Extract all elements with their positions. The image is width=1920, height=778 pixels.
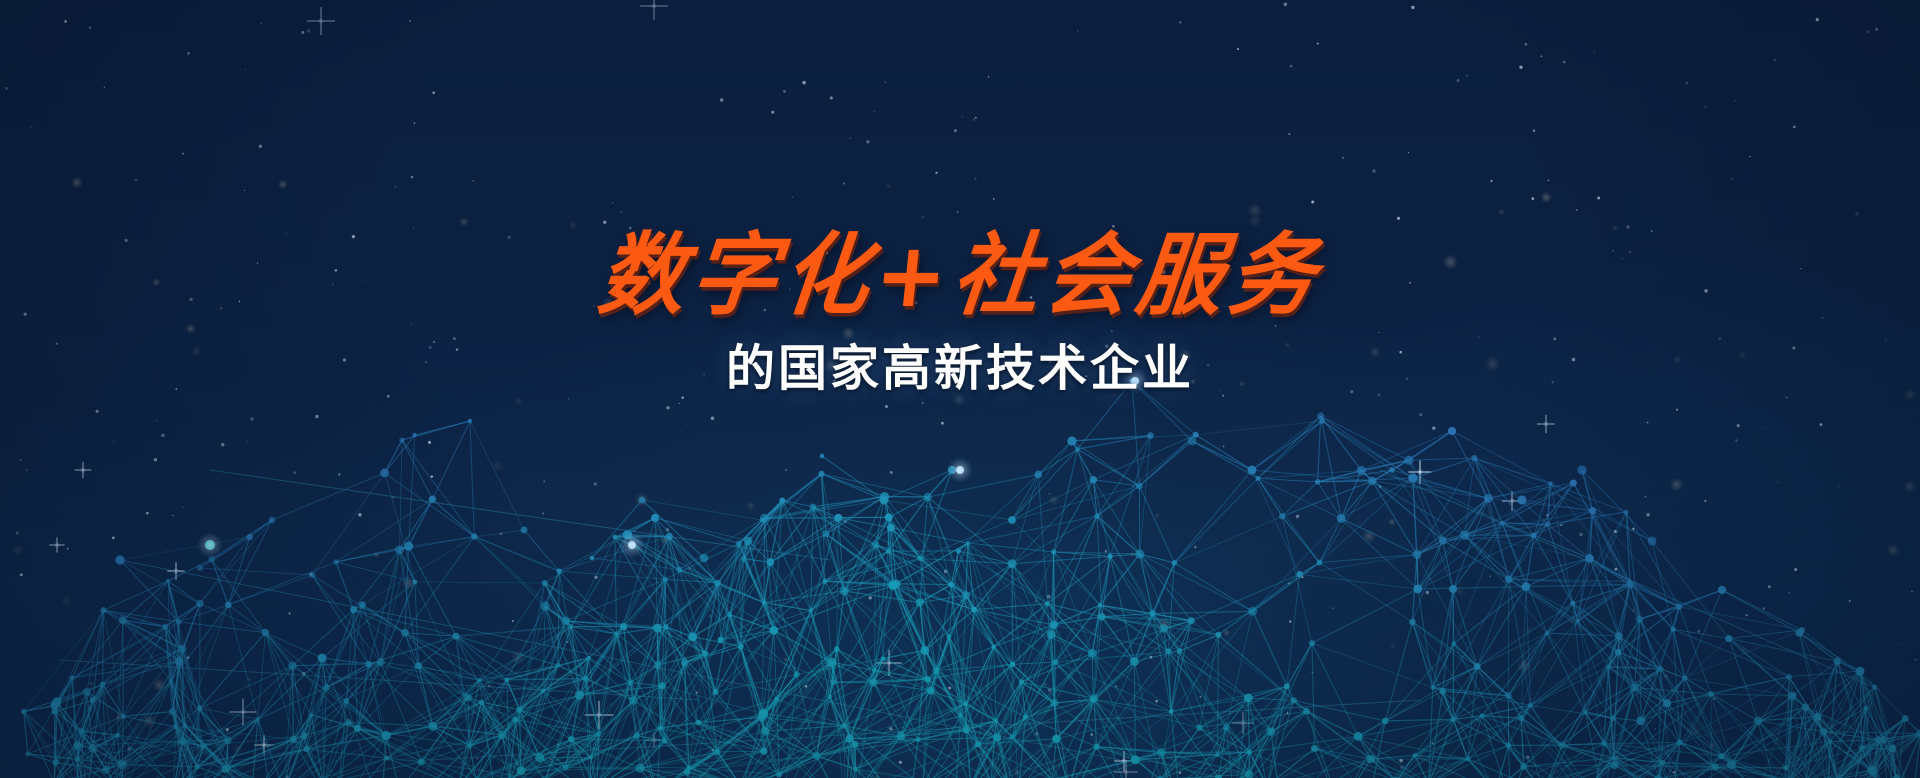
hero-text-block: 数字化+社会服务 的国家高新技术企业 bbox=[0, 228, 1920, 396]
page-title: 数字化+社会服务 bbox=[0, 226, 1920, 326]
page-subtitle: 的国家高新技术企业 bbox=[0, 342, 1920, 396]
hero-banner: 数字化+社会服务 的国家高新技术企业 bbox=[0, 0, 1920, 778]
